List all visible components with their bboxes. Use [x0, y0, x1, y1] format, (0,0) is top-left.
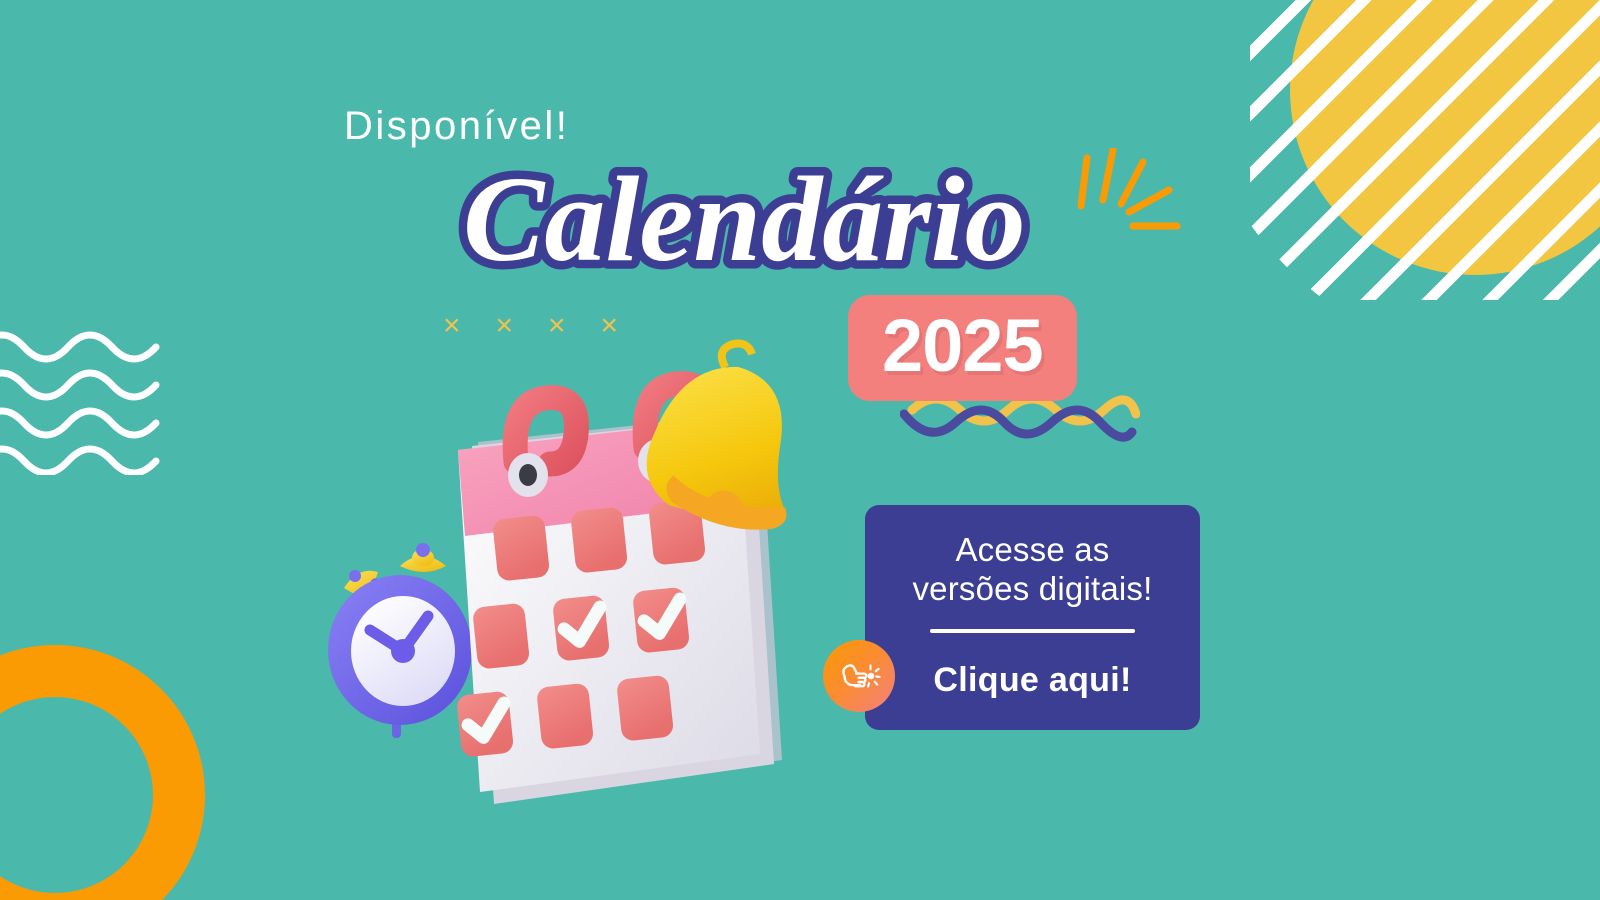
yellow-circle-decoration — [1290, 0, 1600, 275]
promo-banner: Disponível! Calendário 2025 × × × × — [0, 0, 1600, 900]
cta-headline-line-2: versões digitais! — [912, 570, 1152, 609]
year-badge: 2025 — [848, 295, 1077, 401]
year-badge-label: 2025 — [882, 309, 1043, 383]
pointing-hand-click-icon[interactable] — [823, 640, 895, 712]
cta-action-label[interactable]: Clique aqui! — [933, 661, 1131, 700]
orange-ring-decoration — [0, 645, 205, 900]
title-wordmark: Calendário — [455, 152, 1135, 302]
cta-divider — [930, 629, 1135, 633]
diagonal-stripes-decoration — [1250, 0, 1600, 300]
alarm-clock-icon — [328, 543, 472, 738]
calendar-illustration — [290, 330, 860, 820]
cta-headline-line-1: Acesse as — [912, 531, 1152, 570]
wave-lines-decoration — [0, 325, 190, 475]
diagonal-stripes-outer-decoration — [1250, 0, 1600, 300]
title-text: Calendário — [463, 152, 1026, 287]
cta-card[interactable]: Acesse as versões digitais! Clique aqui! — [865, 505, 1200, 730]
cta-headline: Acesse as versões digitais! — [912, 531, 1152, 609]
eyebrow-text: Disponível! — [344, 106, 569, 146]
